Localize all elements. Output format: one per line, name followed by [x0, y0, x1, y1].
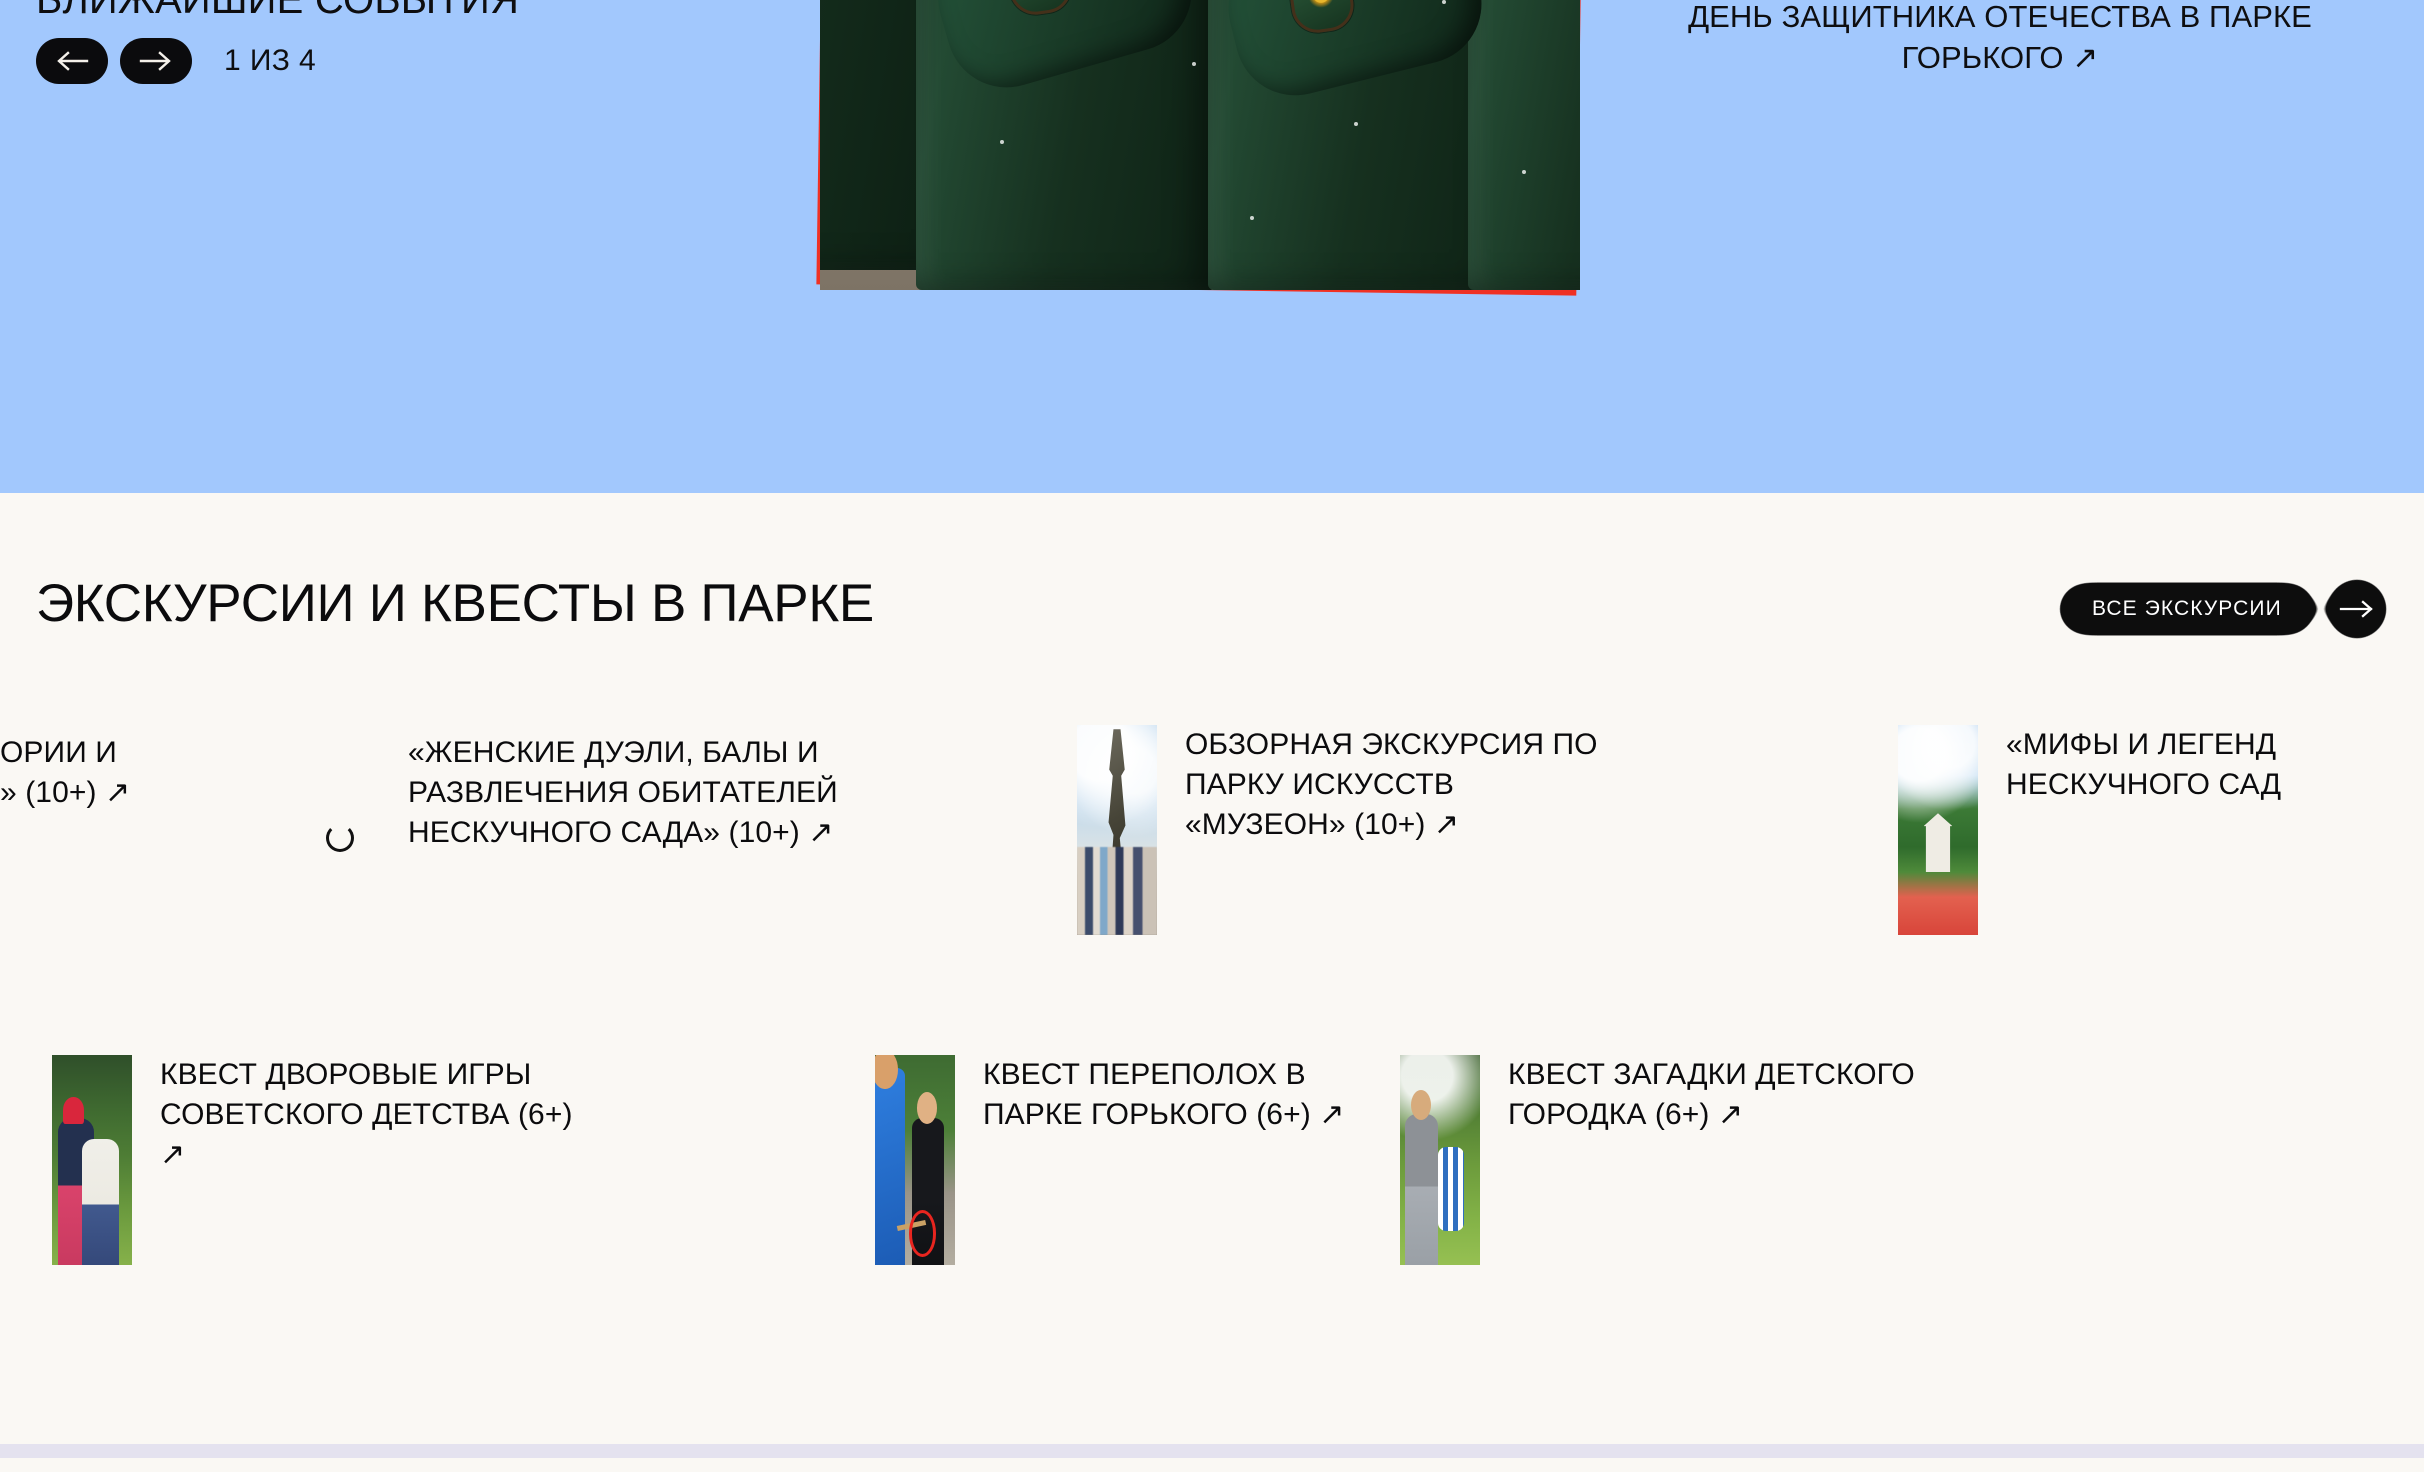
excursion-card[interactable]: КВЕСТ ПЕРЕПОЛОХ В ПАРКЕ ГОРЬКОГО (6+) ↗ [875, 1055, 1435, 1265]
excursion-thumbnail-loading [300, 733, 380, 943]
excursion-card-grid: ОРИИ И » (10+) ↗ «ЖЕНСКИЕ ДУЭЛИ, БАЛЫ И … [0, 733, 2424, 1377]
excursion-card[interactable]: ОБЗОРНАЯ ЭКСКУРСИЯ ПО ПАРКУ ИСКУССТВ «МУ… [1077, 725, 1637, 935]
excursion-thumbnail [875, 1055, 955, 1265]
photo-red-circle-annotation [909, 1210, 936, 1256]
all-excursions-arrow-button[interactable]: → [2326, 578, 2388, 640]
excursions-section: ЭКСКУРСИИ И КВЕСТЫ В ПАРКЕ ВСЕ ЭКСКУРСИИ… [0, 493, 2424, 1458]
all-excursions-label: ВСЕ ЭКСКУРСИИ [2058, 582, 2316, 636]
page-title: БЛИЖАЙШИЕ СОБЫТИЯ [36, 0, 519, 23]
excursion-card[interactable]: «ЖЕНСКИЕ ДУЭЛИ, БАЛЫ И РАЗВЛЕЧЕНИЯ ОБИТА… [300, 733, 920, 943]
all-excursions-button[interactable]: ВСЕ ЭКСКУРСИИ → [2058, 578, 2388, 640]
upcoming-events-section: БЛИЖАЙШИЕ СОБЫТИЯ ← → 1 ИЗ 4 [0, 0, 2424, 493]
event-title-link[interactable]: ДЕНЬ ЗАЩИТНИКА ОТЕЧЕСТВА В ПАРКЕ ГОРЬКОГ… [1640, 0, 2360, 78]
carousel-counter: 1 ИЗ 4 [224, 44, 316, 78]
carousel-next-button[interactable]: → [120, 38, 192, 84]
excursion-thumbnail [1898, 725, 1978, 935]
card-row: КВЕСТ ДВОРОВЫЕ ИГРЫ СОВЕТСКОГО ДЕТСТВА (… [0, 1055, 2424, 1377]
military-band-image [820, 0, 1580, 290]
excursion-card-title: «ЖЕНСКИЕ ДУЭЛИ, БАЛЫ И РАЗВЛЕЧЕНИЯ ОБИТА… [408, 733, 920, 853]
excursion-card[interactable]: «МИФЫ И ЛЕГЕНД НЕСКУЧНОГО САД [1898, 725, 2424, 935]
arrow-right-icon [139, 51, 173, 71]
excursion-card-title-line2: » (10+) ↗ [0, 773, 130, 813]
excursion-card-title: ОБЗОРНАЯ ЭКСКУРСИЯ ПО ПАРКУ ИСКУССТВ «МУ… [1185, 725, 1615, 845]
page-bottom-strip [0, 1444, 2424, 1458]
card-row: ОРИИ И » (10+) ↗ «ЖЕНСКИЕ ДУЭЛИ, БАЛЫ И … [0, 733, 2424, 1055]
excursion-card-title-line2: НЕСКУЧНОГО САД [2006, 765, 2424, 805]
arrow-left-icon [55, 51, 89, 71]
loading-spinner-icon [326, 824, 354, 852]
excursion-card-title: «МИФЫ И ЛЕГЕНД [2006, 725, 2424, 765]
excursion-thumbnail [1077, 725, 1157, 935]
excursion-card-title: ОРИИ И [0, 733, 130, 773]
excursion-card[interactable]: КВЕСТ ДВОРОВЫЕ ИГРЫ СОВЕТСКОГО ДЕТСТВА (… [52, 1055, 612, 1265]
excursion-thumbnail [1400, 1055, 1480, 1265]
event-photo[interactable] [820, 0, 1580, 290]
photo-frame [820, 0, 1580, 290]
excursion-card[interactable]: ОРИИ И » (10+) ↗ [0, 733, 210, 813]
arrow-right-icon [2337, 600, 2377, 618]
excursion-card[interactable]: КВЕСТ ЗАГАДКИ ДЕТСКОГО ГОРОДКА (6+) ↗ [1400, 1055, 1960, 1265]
excursion-card-title: КВЕСТ ДВОРОВЫЕ ИГРЫ СОВЕТСКОГО ДЕТСТВА (… [160, 1055, 580, 1175]
excursion-card-title: КВЕСТ ЗАГАДКИ ДЕТСКОГО ГОРОДКА (6+) ↗ [1508, 1055, 1928, 1135]
carousel-prev-button[interactable]: ← [36, 38, 108, 84]
excursion-card-title: КВЕСТ ПЕРЕПОЛОХ В ПАРКЕ ГОРЬКОГО (6+) ↗ [983, 1055, 1403, 1135]
excursion-thumbnail [52, 1055, 132, 1265]
carousel-controls: ← → 1 ИЗ 4 [36, 38, 316, 84]
section-title: ЭКСКУРСИИ И КВЕСТЫ В ПАРКЕ [36, 573, 874, 634]
